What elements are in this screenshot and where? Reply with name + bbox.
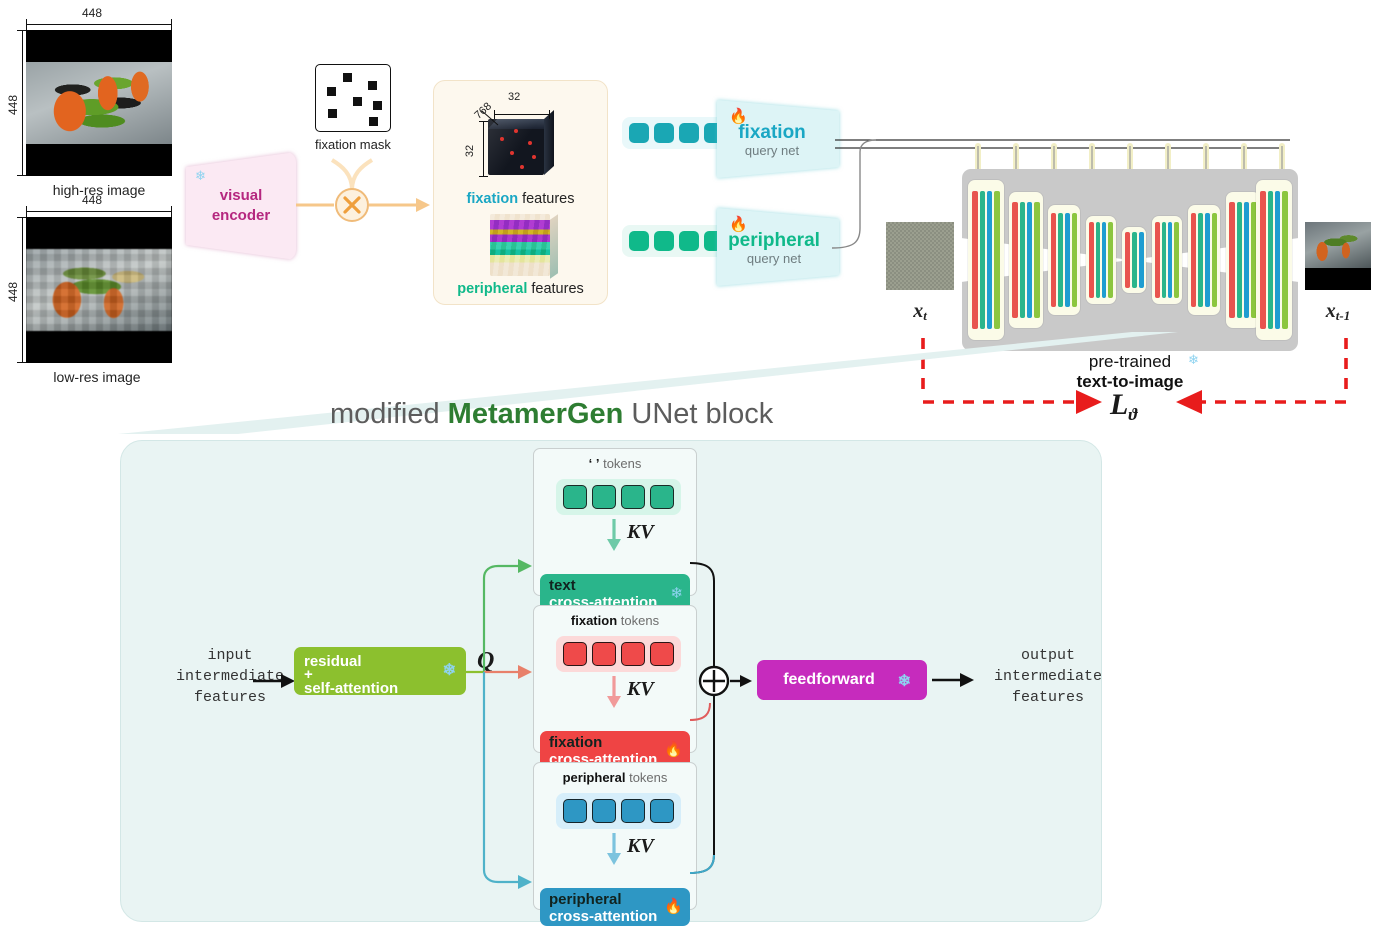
attention-merge-connectors: [690, 555, 770, 905]
fixation-kv-label: KV: [627, 678, 654, 701]
residual-line-3: self-attention: [304, 680, 456, 697]
noisy-input-thumb: xt: [886, 222, 954, 324]
input-arrow: [253, 672, 299, 690]
panel-title: modified MetamerGen UNet block: [330, 398, 890, 431]
unet-block[interactable]: [1152, 216, 1182, 304]
xt-minus-1-label: x: [1326, 300, 1336, 322]
fixation-token-strip: [622, 117, 731, 149]
peripheral-query-net-title: peripheral: [717, 230, 831, 251]
unet-block[interactable]: [1086, 216, 1116, 304]
fire-icon: 🔥: [664, 899, 683, 914]
cube-width-label: 32: [508, 91, 520, 103]
text-branch: ‘ ’ tokens KV text cross-attention ❄: [533, 448, 697, 596]
peripheral-token-strip: [622, 225, 731, 257]
peripheral-token-strip-detail: [556, 793, 681, 829]
token: [592, 799, 616, 823]
fixation-kv-arrow: [604, 676, 624, 708]
unet-block[interactable]: [1256, 180, 1292, 340]
title-brand: MetamerGen: [448, 398, 624, 430]
peripheral-attn-subtitle: cross-attention: [549, 908, 681, 926]
residual-self-attention-block[interactable]: residual + self-attention ❄: [294, 647, 466, 695]
fixation-query-net-title: fixation: [717, 122, 827, 143]
fixation-query-net[interactable]: 🔥 fixation query net: [717, 100, 839, 178]
q-branch-connectors: [464, 548, 544, 898]
token: [629, 231, 649, 251]
xt-label: x: [913, 300, 923, 322]
text-kv-arrow: [604, 519, 624, 551]
text-token-strip: [556, 479, 681, 515]
fixation-token-strip-detail: [556, 636, 681, 672]
token: [563, 485, 587, 509]
encoder-line-2: encoder: [186, 206, 296, 226]
snowflake-icon: ❄: [898, 671, 911, 691]
token: [650, 642, 674, 666]
snowflake-icon: ❄: [195, 168, 206, 184]
fixation-features-caption: fixation features: [434, 191, 607, 207]
high-res-height-label: 448: [6, 95, 20, 115]
unet-block[interactable]: [1122, 227, 1146, 293]
token: [654, 123, 674, 143]
token: [563, 642, 587, 666]
unet-block[interactable]: [1188, 205, 1220, 315]
peripheral-feature-block: [490, 214, 550, 276]
text-attn-title: text: [549, 577, 681, 594]
token: [650, 485, 674, 509]
denoised-output-thumb: xt-1: [1305, 222, 1371, 324]
sum-node: [694, 660, 756, 702]
visual-encoder[interactable]: ❄ visual encoder: [186, 152, 296, 260]
peripheral-kv-arrow: [604, 833, 624, 865]
low-res-width-label: 448: [12, 193, 172, 207]
encoder-line-1: visual: [186, 186, 296, 206]
low-res-height-label: 448: [6, 282, 20, 302]
title-prefix: modified: [330, 398, 448, 430]
residual-line-2: +: [304, 670, 456, 680]
peripheral-features-caption: peripheral features: [434, 281, 607, 297]
fixation-query-net-subtitle: query net: [717, 143, 827, 158]
peripheral-branch: peripheral tokens KV peripheral cross-at…: [533, 762, 697, 910]
fixation-tokens-label: fixation tokens: [534, 613, 696, 628]
token: [592, 485, 616, 509]
text-kv-label: KV: [627, 521, 654, 544]
cube-height-label: 32: [464, 145, 476, 157]
text-tokens-label: ‘ ’ tokens: [534, 456, 696, 471]
fixation-attn-title: fixation: [549, 734, 681, 751]
high-res-width-label: 448: [12, 6, 172, 20]
fixation-mask-box: [315, 64, 391, 132]
unet-block[interactable]: [1048, 205, 1080, 315]
title-suffix: UNet block: [623, 398, 773, 430]
peripheral-tokens-label: peripheral tokens: [534, 770, 696, 785]
unet-block[interactable]: [1226, 192, 1260, 328]
output-features-label: output intermediate features: [963, 645, 1133, 708]
peripheral-attn-title: peripheral: [549, 891, 681, 908]
token: [650, 799, 674, 823]
features-panel: 32 32 768 fixation features peripheral f…: [433, 80, 608, 305]
high-res-image: [26, 30, 172, 176]
token: [621, 642, 645, 666]
residual-line-1: residual: [304, 653, 456, 670]
fixation-feature-cube: 32 32 768: [480, 105, 556, 181]
unet-block[interactable]: [1009, 192, 1043, 328]
peripheral-query-net-subtitle: query net: [717, 251, 831, 266]
peripheral-kv-label: KV: [627, 835, 654, 858]
token: [621, 485, 645, 509]
token: [621, 799, 645, 823]
feedforward-block[interactable]: feedforward ❄: [757, 660, 927, 700]
token: [654, 231, 674, 251]
encoder-to-features-connector: [290, 130, 440, 240]
unet-block[interactable]: [968, 180, 1004, 340]
high-res-input: 448 448 high-res image: [12, 6, 172, 152]
low-res-input: 448 448 low-res image: [12, 193, 172, 339]
fixation-branch: fixation tokens KV fixation cross-attent…: [533, 605, 697, 753]
token: [563, 799, 587, 823]
fire-icon: 🔥: [664, 742, 683, 757]
peripheral-cross-attention-block[interactable]: peripheral cross-attention 🔥: [540, 888, 690, 926]
snowflake-icon: ❄: [443, 662, 456, 679]
token: [679, 123, 699, 143]
peripheral-query-net[interactable]: 🔥 peripheral query net: [717, 208, 839, 286]
token: [629, 123, 649, 143]
token: [679, 231, 699, 251]
token: [592, 642, 616, 666]
snowflake-icon: ❄: [670, 584, 683, 602]
feedforward-label: feedforward: [783, 671, 875, 689]
